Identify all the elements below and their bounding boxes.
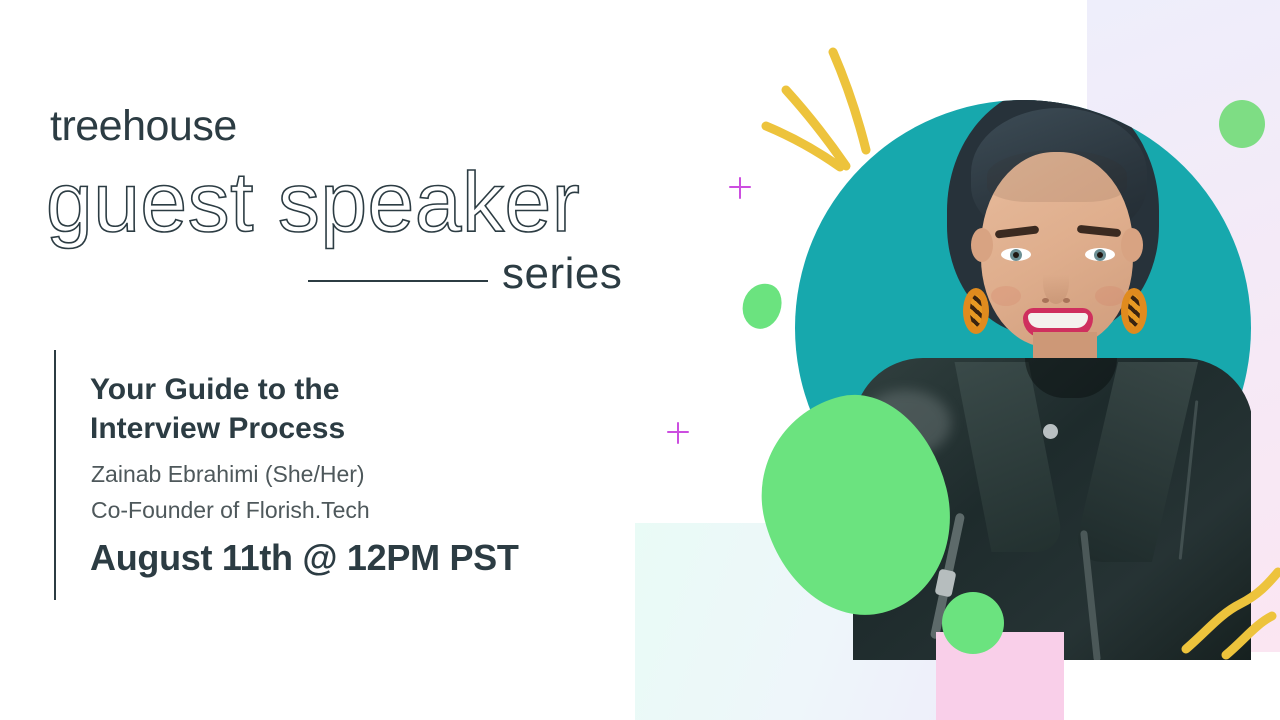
earring-right bbox=[1121, 288, 1147, 334]
brand-wordmark: treehouse bbox=[50, 105, 237, 148]
green-dot-shape bbox=[942, 592, 1004, 654]
green-blob-small-shape bbox=[737, 278, 787, 333]
speaker-name: Zainab Ebrahimi (She/Her) bbox=[91, 461, 365, 487]
vertical-rule bbox=[54, 350, 56, 600]
plus-mark-icon bbox=[729, 177, 751, 199]
talk-title-line-1: Your Guide to the bbox=[90, 370, 570, 409]
talk-title: Your Guide to the Interview Process bbox=[90, 370, 570, 448]
forehead-shadow bbox=[987, 150, 1127, 202]
speaker-role: Co-Founder of Florish.Tech bbox=[91, 497, 370, 523]
eye-right bbox=[1085, 248, 1115, 261]
plus-mark-icon bbox=[667, 422, 689, 444]
cheek-left bbox=[991, 286, 1021, 306]
promo-slide: treehouse guest speaker series Your Guid… bbox=[0, 0, 1280, 720]
earring-left bbox=[963, 288, 989, 334]
talk-title-line-2: Interview Process bbox=[90, 409, 570, 448]
event-datetime: August 11th @ 12PM PST bbox=[90, 537, 519, 578]
green-dot-top-shape bbox=[1219, 100, 1265, 148]
cheek-right bbox=[1095, 286, 1125, 306]
ear-left bbox=[971, 228, 993, 262]
iris-right bbox=[1094, 249, 1106, 261]
jacket-snap-button bbox=[1043, 424, 1058, 439]
series-rule bbox=[308, 280, 488, 282]
series-label: series bbox=[502, 252, 622, 296]
nostril-right bbox=[1063, 298, 1070, 303]
eye-left bbox=[1001, 248, 1031, 261]
page-title: guest speaker bbox=[46, 160, 580, 244]
nostril-left bbox=[1042, 298, 1049, 303]
teeth bbox=[1028, 313, 1088, 328]
iris-left bbox=[1010, 249, 1022, 261]
ear-right bbox=[1121, 228, 1143, 262]
